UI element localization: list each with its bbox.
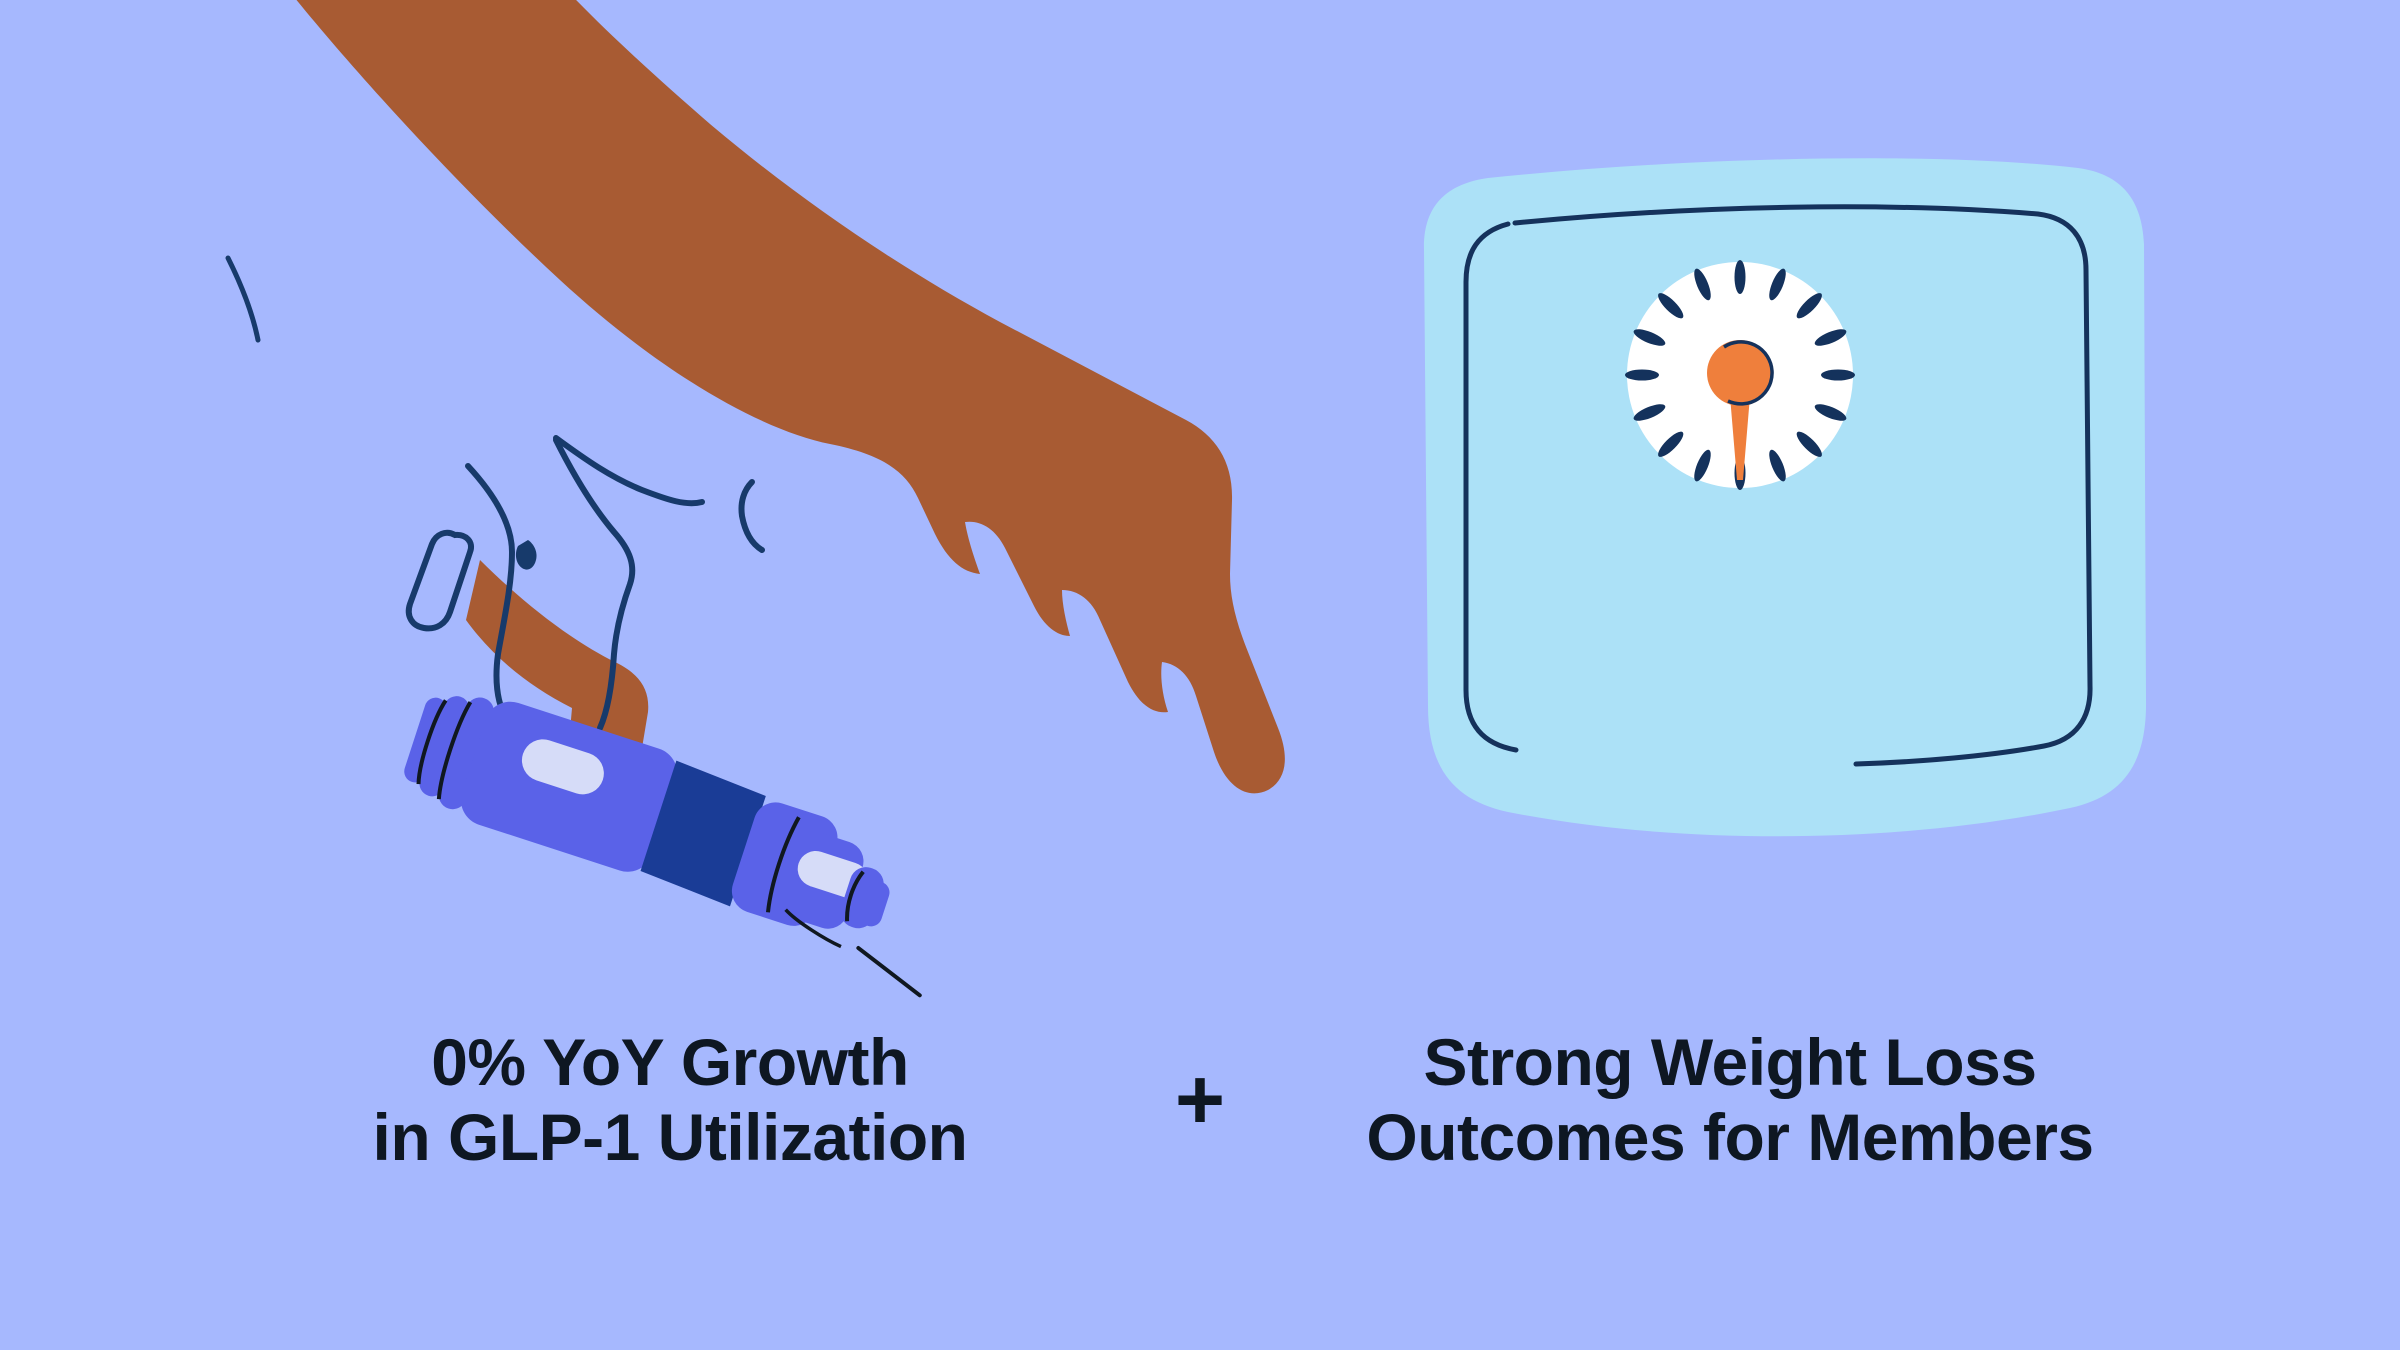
caption-right: Strong Weight Loss Outcomes for Members [1280,1025,2180,1174]
caption-right-line-1: Strong Weight Loss [1423,1025,2036,1100]
caption-left-line-1: 0% YoY Growth [431,1025,909,1100]
caption-left-line-2: in GLP-1 Utilization [373,1100,968,1175]
caption-right-line-2: Outcomes for Members [1366,1100,2093,1175]
hand-reaching-icon [0,0,1285,797]
plus-connector: + [1120,1057,1280,1143]
glp1-injection-pen-icon [387,676,967,996]
bathroom-scale-icon [1424,158,2146,836]
caption-left: 0% YoY Growth in GLP-1 Utilization [220,1025,1120,1174]
caption-row: 0% YoY Growth in GLP-1 Utilization + Str… [0,950,2400,1250]
scale-body [1424,158,2146,836]
infographic-canvas: 0% YoY Growth in GLP-1 Utilization + Str… [0,0,2400,1350]
